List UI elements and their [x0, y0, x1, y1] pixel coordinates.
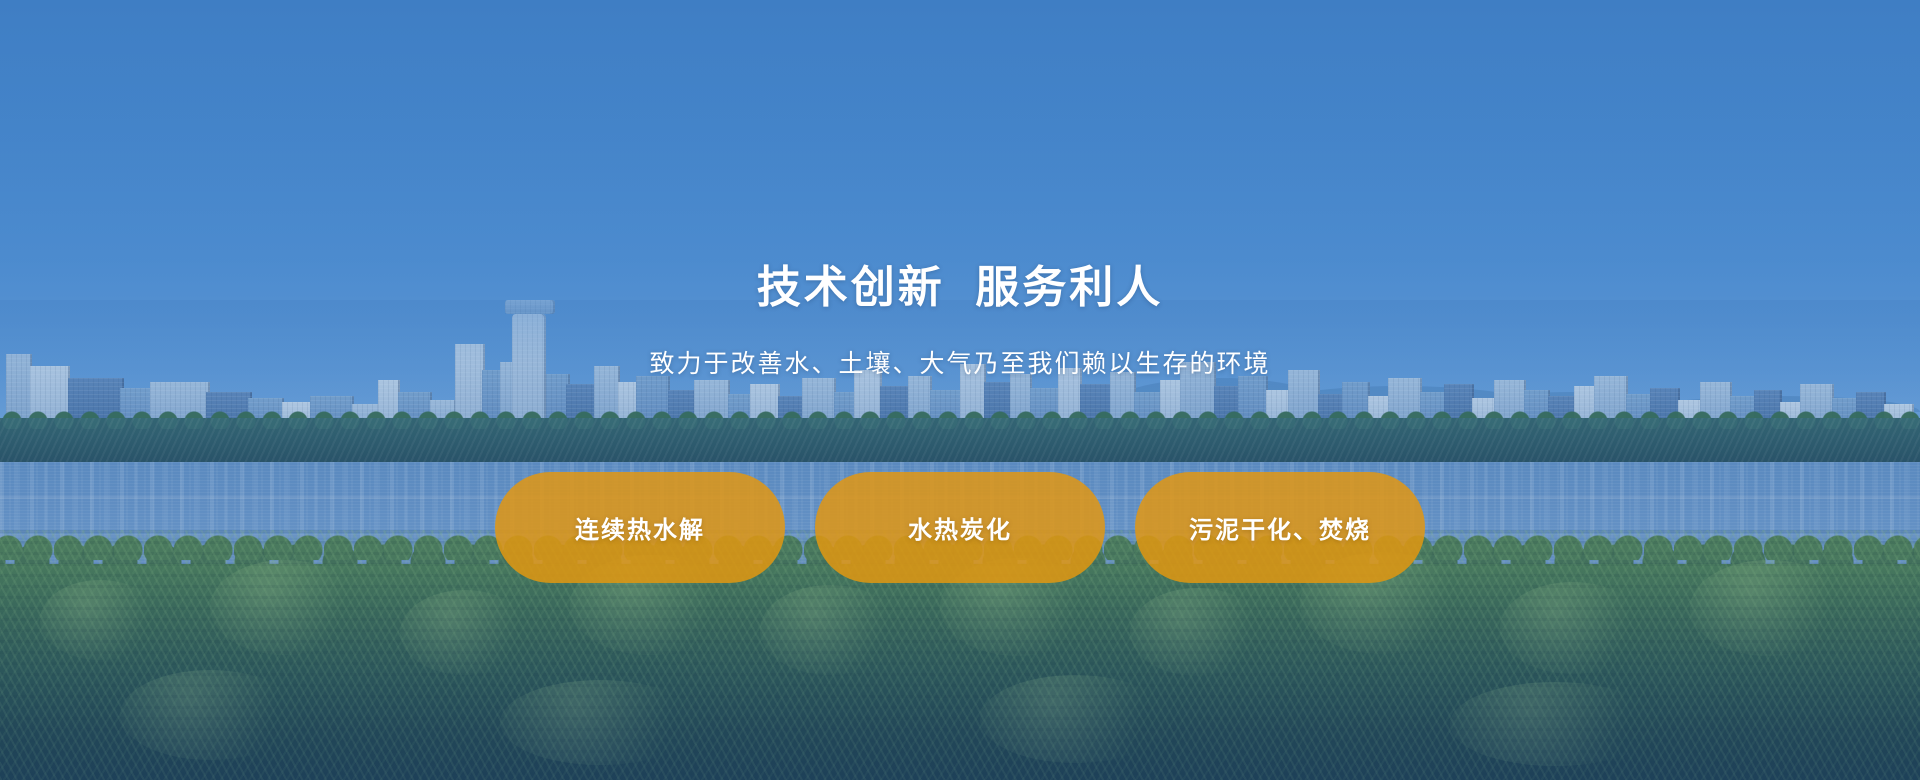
- hero-subtitle: 致力于改善水、土壤、大气乃至我们赖以生存的环境: [0, 344, 1920, 380]
- pill-button-continuous-thermal-hydrolysis[interactable]: 连续热水解: [495, 472, 785, 583]
- page-title: 技术创新 服务利人: [0, 262, 1920, 314]
- pill-button-sludge-drying-incineration[interactable]: 污泥干化、焚烧: [1135, 472, 1425, 583]
- pill-button-hydrothermal-carbonization[interactable]: 水热炭化: [815, 472, 1105, 583]
- hero-banner: 技术创新 服务利人 致力于改善水、土壤、大气乃至我们赖以生存的环境 连续热水解 …: [0, 0, 1920, 780]
- cta-button-group: 连续热水解 水热炭化 污泥干化、焚烧: [0, 472, 1920, 583]
- hero-content: 技术创新 服务利人 致力于改善水、土壤、大气乃至我们赖以生存的环境 连续热水解 …: [0, 0, 1920, 780]
